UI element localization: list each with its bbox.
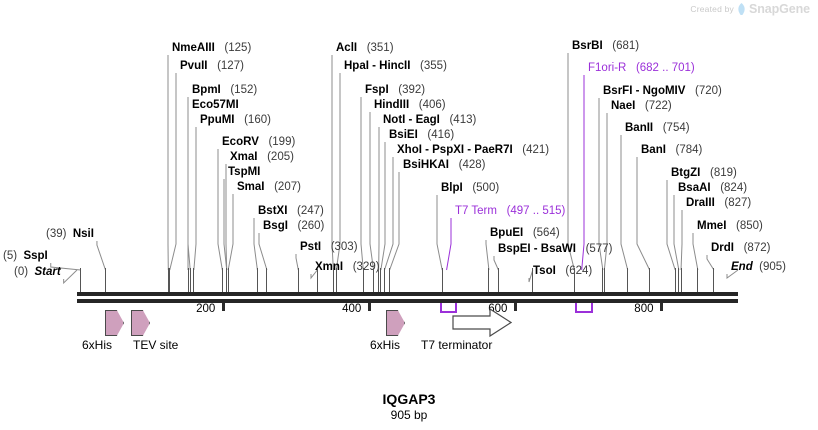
cut-site-tick: [80, 268, 81, 292]
feature-caption-6xHis: 6xHis: [82, 338, 112, 352]
f1ori-bracket: [575, 303, 593, 313]
cut-site-tick: [697, 268, 698, 292]
cut-site-tick: [193, 268, 194, 292]
cut-site-tick: [442, 268, 443, 292]
cut-site-tick: [378, 268, 379, 292]
ruler-tick-label-200: 200: [196, 303, 215, 315]
cut-site-tick: [190, 268, 191, 292]
cut-site-tick: [105, 268, 106, 292]
cut-site-tick: [488, 268, 489, 292]
cut-site-tick: [333, 268, 334, 292]
feature-caption-6xHis-2: 6xHis: [370, 338, 400, 352]
sequence-backbone-top: [77, 292, 738, 296]
ruler-tick-mark: [514, 303, 517, 311]
cut-site-tick: [675, 268, 676, 292]
cut-site-tick: [363, 268, 364, 292]
feature-glyph-6xHis-2[interactable]: [386, 310, 405, 336]
pink-arrow-icon: [131, 310, 150, 336]
cut-site-tick: [498, 268, 499, 292]
sequence-ruler: 200400600800: [0, 0, 818, 430]
pink-arrow-icon: [105, 310, 124, 336]
cut-site-tick: [649, 268, 650, 292]
cut-site-tick: [380, 268, 381, 292]
feature-caption-T7-terminator: T7 terminator: [421, 338, 492, 352]
cut-site-tick: [298, 268, 299, 292]
map-title: IQGAP3: [0, 391, 818, 407]
cut-site-tick: [681, 268, 682, 292]
map-length-label: 905 bp: [0, 408, 818, 422]
cut-site-tick: [384, 268, 385, 292]
cut-site-tick: [228, 268, 229, 292]
cut-site-tick: [627, 268, 628, 292]
feature-glyph-TEV-site[interactable]: [131, 310, 150, 336]
ruler-tick-label-400: 400: [342, 303, 361, 315]
cut-site-tick: [266, 268, 267, 292]
ruler-tick-mark: [368, 303, 371, 311]
cut-site-tick: [678, 268, 679, 292]
ruler-tick-mark: [222, 303, 225, 311]
cut-site-tick: [373, 268, 374, 292]
pink-arrow-icon: [386, 310, 405, 336]
cut-site-tick: [389, 268, 390, 292]
cut-site-tick: [336, 268, 337, 292]
sequence-map-canvas: Created by SnapGene (0) Start(5) SspI(39…: [0, 0, 818, 430]
cut-site-tick: [188, 268, 189, 292]
cut-site-tick: [574, 268, 575, 292]
open-arrow-icon: [452, 308, 512, 338]
cut-site-tick: [222, 268, 223, 292]
cut-site-tick: [257, 268, 258, 292]
cut-site-tick: [532, 268, 533, 292]
cut-site-tick: [317, 268, 318, 292]
cut-site-tick: [169, 268, 170, 292]
feature-caption-TEV-site: TEV site: [133, 338, 178, 352]
ruler-tick-mark: [660, 303, 663, 311]
feature-glyph-6xHis[interactable]: [105, 310, 124, 336]
cut-site-tick: [713, 268, 714, 292]
ruler-tick-label-800: 800: [634, 303, 653, 315]
cut-site-tick: [604, 268, 605, 292]
